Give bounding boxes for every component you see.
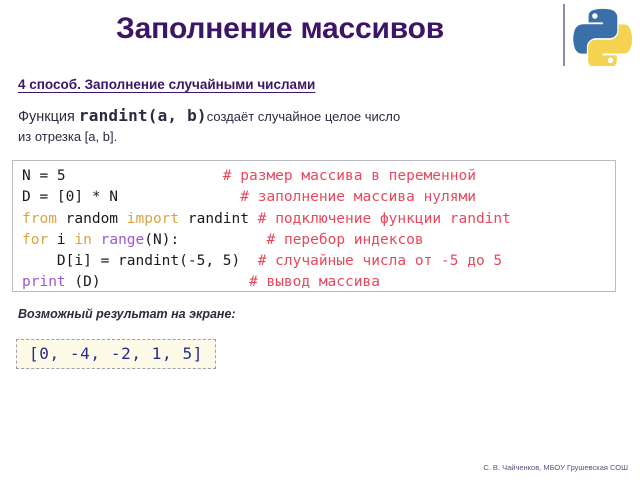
code-token-cm: # перебор индексов bbox=[267, 232, 424, 248]
code-token-kw: in bbox=[74, 232, 91, 248]
description-block: Функция randint(a, b)создаёт случайное ц… bbox=[18, 106, 618, 147]
section-subtitle: 4 способ. Заполнение случайными числами bbox=[18, 77, 315, 92]
code-token-pl: (D) bbox=[66, 274, 101, 290]
code-line: D = [0] * N # заполнение массива нулями bbox=[22, 187, 607, 208]
code-token-cm: # случайные числа от -5 до 5 bbox=[258, 253, 502, 269]
code-token-cm: # подключение функции randint bbox=[258, 211, 511, 227]
code-token-kw: import bbox=[127, 211, 179, 227]
description-lead: Функция bbox=[18, 109, 79, 125]
code-token-bi: range bbox=[101, 232, 145, 248]
code-line: for i in range(N): # перебор индексов bbox=[22, 230, 607, 251]
description-line2: из отрезка [a, b]. bbox=[18, 129, 117, 144]
code-token-pl bbox=[179, 232, 266, 248]
code-token-pl: randint bbox=[179, 211, 258, 227]
code-token-pl: D = [0] * N bbox=[22, 189, 118, 205]
code-token-bi: print bbox=[22, 274, 66, 290]
code-line: N = 5 # размер массива в переменной bbox=[22, 166, 607, 187]
code-token-pl: N = 5 bbox=[22, 168, 66, 184]
footer-credit: С. В. Чайченков, МБОУ Грушевская СОШ bbox=[483, 463, 628, 472]
logo-divider bbox=[563, 4, 565, 66]
code-token-pl: (N): bbox=[144, 232, 179, 248]
code-token-pl bbox=[101, 274, 249, 290]
python-logo-icon bbox=[573, 4, 633, 66]
result-output-box: [0, -4, -2, 1, 5] bbox=[16, 339, 216, 369]
code-token-cm: # вывод массива bbox=[249, 274, 380, 290]
slide-header: Заполнение массивов bbox=[0, 0, 640, 72]
code-token-pl: D[i] = randint(-5, 5) bbox=[22, 253, 240, 269]
code-token-pl bbox=[92, 232, 101, 248]
code-block: N = 5 # размер массива в переменнойD = [… bbox=[12, 160, 616, 292]
code-token-pl: random bbox=[57, 211, 127, 227]
code-line: from random import randint # подключение… bbox=[22, 209, 607, 230]
code-token-pl: i bbox=[48, 232, 74, 248]
code-token-cm: # размер массива в переменной bbox=[223, 168, 476, 184]
description-tail: создаёт случайное целое число bbox=[207, 109, 401, 124]
code-line: print (D) # вывод массива bbox=[22, 272, 607, 293]
function-signature: randint(a, b) bbox=[79, 106, 207, 125]
code-token-pl bbox=[240, 253, 257, 269]
code-token-cm: # заполнение массива нулями bbox=[240, 189, 476, 205]
page-title: Заполнение массивов bbox=[0, 12, 560, 46]
code-token-pl bbox=[66, 168, 223, 184]
code-token-kw: for bbox=[22, 232, 48, 248]
code-line: D[i] = randint(-5, 5) # случайные числа … bbox=[22, 251, 607, 272]
code-token-pl bbox=[118, 189, 240, 205]
code-token-kw: from bbox=[22, 211, 57, 227]
result-caption: Возможный результат на экране: bbox=[18, 307, 236, 321]
